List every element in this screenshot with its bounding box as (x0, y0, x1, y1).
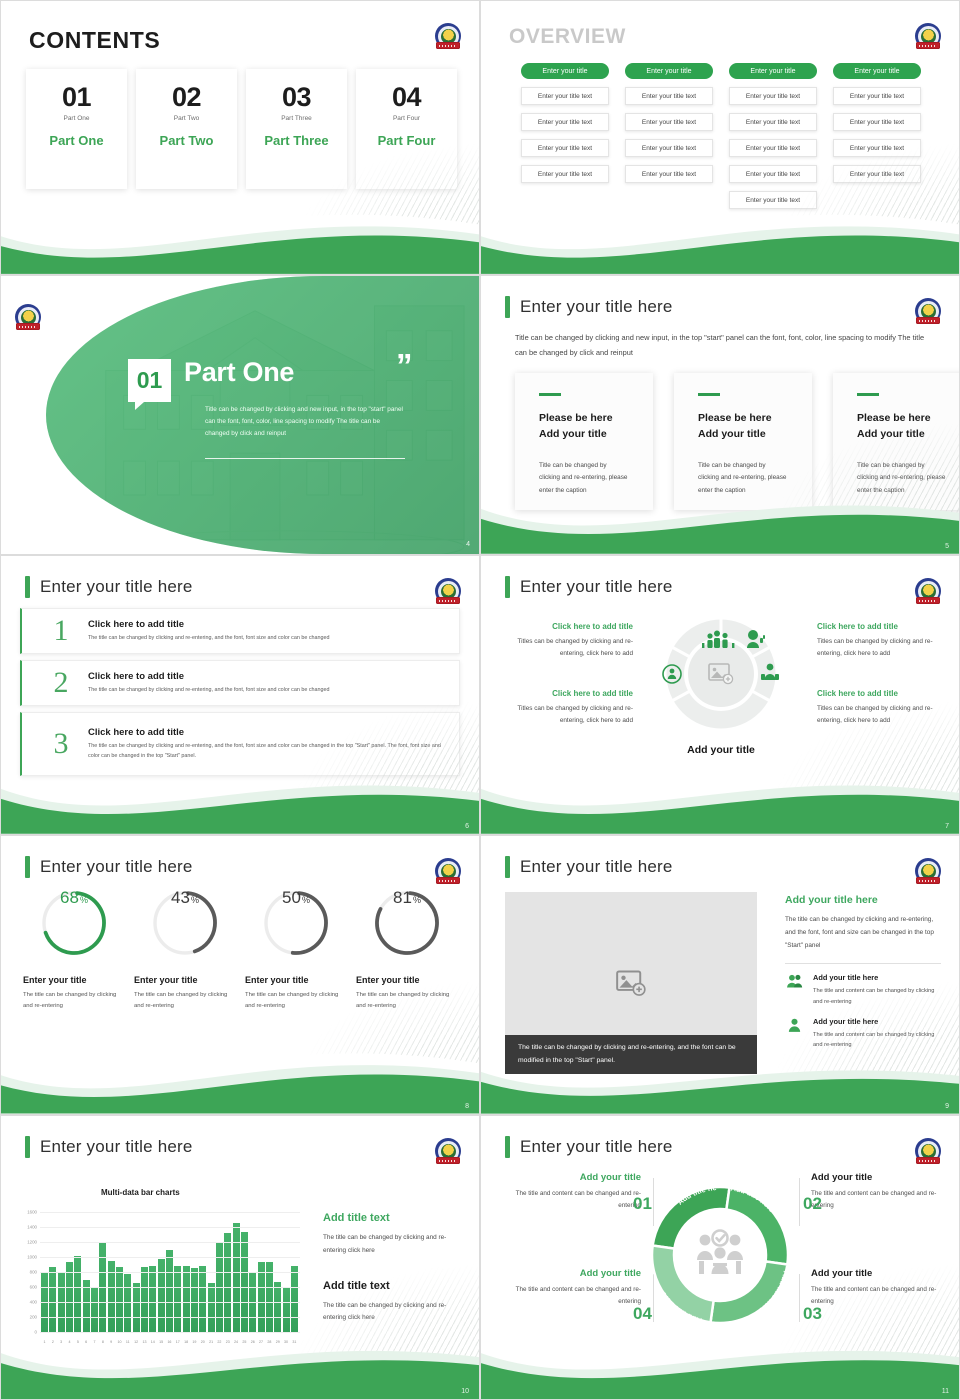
title-accent-bar (505, 1136, 510, 1158)
decorative-wave (1, 1019, 479, 1114)
item-title: Add your title here (813, 1017, 941, 1026)
y-axis-tick: 1400 (15, 1225, 37, 1230)
overview-box[interactable]: Enter your title text (729, 139, 817, 157)
progress-ring: 43 % (150, 888, 220, 958)
title-text: Enter your title here (40, 577, 193, 597)
donut-caption: Add your title (481, 744, 960, 756)
slide-contents: CONTENTS 01 Part One Part One 02 Part Tw… (0, 0, 480, 275)
overview-box[interactable]: Enter your title text (625, 139, 713, 157)
page-number: 7 (945, 823, 949, 830)
item-title: Click here to add title (88, 671, 447, 682)
node-title: Add your title (811, 1172, 943, 1183)
divider-rule (205, 458, 405, 459)
image-placeholder-icon (616, 968, 646, 998)
page-title: Enter your title here (25, 856, 193, 878)
org-logo-icon (915, 578, 941, 604)
ring-body: The title can be changed by clicking and… (23, 990, 125, 1012)
card-list: Please be here Add your title Title can … (515, 373, 960, 510)
org-logo-icon (435, 858, 461, 884)
slide-percent-rings: Enter your title here 68 % Enter your ti… (0, 835, 480, 1115)
bar (49, 1267, 56, 1332)
segment-body: Titles can be changed by clicking and re… (817, 703, 942, 728)
bar (233, 1223, 240, 1332)
item-body: The title and content can be changed by … (813, 1030, 941, 1051)
card-number: 03 (282, 84, 311, 111)
org-logo-icon (435, 578, 461, 604)
card-accent-dash (539, 393, 561, 396)
card-subtitle: Part One (63, 115, 89, 122)
item-number: 3 (34, 729, 88, 759)
card-number: 02 (172, 84, 201, 111)
card-body: Title can be changed by clicking and re-… (857, 460, 947, 497)
bar (174, 1266, 181, 1332)
title-text: Enter your title here (40, 1137, 193, 1157)
item-title: Click here to add title (88, 619, 447, 630)
list-item[interactable]: 1 Click here to add title The title can … (20, 608, 460, 654)
decorative-wave (1, 181, 479, 274)
y-axis-tick: 1600 (15, 1210, 37, 1215)
bar (199, 1266, 206, 1332)
decorative-wave (481, 1337, 959, 1399)
card-label: Part Two (160, 133, 214, 148)
info-card[interactable]: Please be here Add your title Title can … (674, 373, 812, 510)
page-number: 5 (945, 543, 949, 550)
segment-text-block: Click here to add title Titles can be ch… (508, 689, 633, 728)
page-number: 6 (465, 823, 469, 830)
card-label: Part One (49, 133, 103, 148)
item-number: 1 (34, 616, 88, 646)
segment-title: Click here to add title (817, 689, 942, 698)
y-axis-tick: 1000 (15, 1255, 37, 1260)
overview-column: Enter your title Enter your title text E… (833, 63, 921, 209)
percent-sign: % (302, 895, 310, 905)
bar (124, 1274, 131, 1332)
slide-bar-chart: Enter your title here Multi-data bar cha… (0, 1115, 480, 1400)
card-title: Please be here Add your title (698, 410, 788, 443)
segment-title: Click here to add title (508, 689, 633, 698)
grid-line (40, 1287, 300, 1288)
page-number: 11 (942, 1388, 949, 1395)
org-logo-icon (915, 298, 941, 324)
bar (116, 1267, 123, 1332)
card-number: 01 (62, 84, 91, 111)
segment-text-block: Click here to add title Titles can be ch… (817, 689, 942, 728)
slide-donut-segments: Enter your title here Click here to add … (480, 555, 960, 835)
percent-value: 81 (393, 888, 412, 908)
contents-heading: CONTENTS (29, 27, 160, 54)
title-accent-bar (505, 296, 510, 318)
segment-text-block: Click here to add title Titles can be ch… (508, 622, 633, 661)
list-item[interactable]: Add your title here The title and conten… (785, 964, 941, 1007)
slide-image-text: Enter your title here The title can be c… (480, 835, 960, 1115)
card-title: Please be here Add your title (857, 410, 947, 443)
contents-card[interactable]: 04 Part Four Part Four (356, 69, 457, 189)
overview-grid: Enter your title Enter your title text E… (521, 63, 921, 209)
side-heading: Add title text (323, 1212, 465, 1224)
grid-line (40, 1332, 300, 1333)
chart-title: Multi-data bar charts (101, 1188, 180, 1197)
segment-title: Click here to add title (508, 622, 633, 631)
side-body: The title can be changed by clicking and… (323, 1232, 465, 1258)
item-body: The title and content can be changed by … (813, 986, 941, 1007)
bar (166, 1250, 173, 1332)
bar (158, 1259, 165, 1332)
overview-box[interactable]: Enter your title text (521, 113, 609, 131)
page-title: Enter your title here (505, 576, 673, 598)
two-people-icon (785, 973, 804, 1007)
page-number: 4 (466, 541, 470, 548)
overview-box[interactable]: Enter your title text (833, 165, 921, 183)
title-accent-bar (505, 856, 510, 878)
contents-card[interactable]: 02 Part Two Part Two (136, 69, 237, 189)
percent-sign: % (80, 895, 88, 905)
y-axis-tick: 800 (15, 1270, 37, 1275)
ring-label: Enter your title (134, 975, 198, 985)
card-title: Please be here Add your title (539, 410, 629, 443)
info-card[interactable]: Please be here Add your title Title can … (515, 373, 653, 510)
bar (149, 1266, 156, 1332)
segment-body: Titles can be changed by clicking and re… (508, 636, 633, 661)
list-item[interactable]: 2 Click here to add title The title can … (20, 660, 460, 706)
page-title: Enter your title here (25, 576, 193, 598)
single-person-icon (785, 1017, 804, 1051)
page-number: 9 (945, 1103, 949, 1110)
overview-box[interactable]: Enter your title text (625, 165, 713, 183)
numbered-row-list: 1 Click here to add title The title can … (20, 608, 460, 776)
ring-body: The title can be changed by clicking and… (356, 990, 458, 1012)
page-number: 8 (465, 1103, 469, 1110)
overview-pill[interactable]: Enter your title (625, 63, 713, 79)
item-number: 2 (34, 668, 88, 698)
grid-line (40, 1257, 300, 1258)
info-card[interactable]: Please be here Add your title Title can … (833, 373, 960, 510)
bar (91, 1287, 98, 1332)
overview-box[interactable]: Enter your title text (521, 139, 609, 157)
node-body: The title and content can be changed and… (509, 1188, 641, 1212)
bar (191, 1268, 198, 1332)
org-logo-icon (435, 23, 461, 49)
list-item[interactable]: Add your title here The title and conten… (785, 1008, 941, 1051)
overview-box[interactable]: Enter your title text (521, 165, 609, 183)
percent-sign: % (191, 895, 199, 905)
card-subtitle: Part Three (281, 115, 312, 122)
overview-pill[interactable]: Enter your title (729, 63, 817, 79)
cycle-diagram[interactable]: Add title here Add title here Add title … (639, 1174, 801, 1336)
bar (274, 1282, 281, 1332)
segment-title: Click here to add title (817, 622, 942, 631)
card-subtitle: Part Four (393, 115, 420, 122)
bar (141, 1267, 148, 1332)
cycle-node-text: Add your title The title and content can… (811, 1268, 943, 1308)
right-body: The title can be changed by clicking and… (785, 914, 941, 952)
page-title: Enter your title here (505, 1136, 673, 1158)
overview-pill[interactable]: Enter your title (833, 63, 921, 79)
decorative-wave (1, 767, 479, 834)
slide-overview: OVERVIEW Enter your title Enter your tit… (480, 0, 960, 275)
overview-column: Enter your title Enter your title text E… (729, 63, 817, 209)
grid-line (40, 1212, 300, 1213)
item-title: Click here to add title (88, 727, 447, 738)
percent-value: 50 (282, 888, 301, 908)
progress-ring: 68 % (39, 888, 109, 958)
grid-line (40, 1242, 300, 1243)
y-axis-tick: 0 (15, 1330, 37, 1335)
segment-body: Titles can be changed by clicking and re… (817, 636, 942, 661)
grid-line (40, 1302, 300, 1303)
title-text: Enter your title here (520, 1137, 673, 1157)
grid-line (40, 1272, 300, 1273)
bar (283, 1288, 290, 1332)
list-item[interactable]: 3 Click here to add title The title can … (20, 712, 460, 776)
bar (74, 1256, 81, 1332)
title-accent-bar (25, 856, 30, 878)
ring-body: The title can be changed by clicking and… (245, 990, 347, 1012)
contents-card[interactable]: 03 Part Three Part Three (246, 69, 347, 189)
org-logo-icon (915, 858, 941, 884)
card-accent-dash (857, 393, 879, 396)
progress-ring: 50 % (261, 888, 331, 958)
slide-cycle-diagram: Enter your title here Add your title The… (480, 1115, 960, 1400)
bar-chart[interactable]: 1234567891011121314151617181920212223242… (15, 1204, 300, 1354)
percent-ring-item[interactable]: 81 % Enter your title The title can be c… (356, 888, 458, 1012)
percent-ring-item[interactable]: 50 % Enter your title The title can be c… (245, 888, 347, 1012)
node-number: 02 (803, 1194, 822, 1214)
percent-value: 68 (60, 888, 79, 908)
node-body: The title and content can be changed and… (811, 1284, 943, 1308)
title-text: Enter your title here (40, 857, 193, 877)
slide-section-divider: 4 01 Part One ” Title can be changed by … (0, 275, 480, 555)
image-caption: The title can be changed by clicking and… (505, 1035, 757, 1074)
node-body: The title and content can be changed and… (811, 1188, 943, 1212)
overview-pill[interactable]: Enter your title (521, 63, 609, 79)
overview-box[interactable]: Enter your title text (833, 87, 921, 105)
bar (183, 1266, 190, 1332)
node-title: Add your title (509, 1172, 641, 1183)
title-accent-bar (25, 1136, 30, 1158)
card-number: 04 (392, 84, 421, 111)
overview-box[interactable]: Enter your title text (521, 87, 609, 105)
card-body: Title can be changed by clicking and re-… (539, 460, 629, 497)
quote-mark-icon: ” (396, 354, 413, 377)
overview-box[interactable]: Enter your title text (625, 113, 713, 131)
percent-value: 43 (171, 888, 190, 908)
segment-body: Titles can be changed by clicking and re… (508, 703, 633, 728)
overview-box[interactable]: Enter your title text (729, 191, 817, 209)
org-logo-icon (15, 304, 41, 330)
right-content: Add your title here The title can be cha… (785, 894, 941, 1051)
y-axis-tick: 200 (15, 1315, 37, 1320)
card-label: Part Three (264, 133, 328, 148)
segment-text-block: Click here to add title Titles can be ch… (817, 622, 942, 661)
title-text: Enter your title here (520, 577, 673, 597)
slide-three-cards: Enter your title here Title can be chang… (480, 275, 960, 555)
y-axis-tick: 600 (15, 1285, 37, 1290)
percent-ring-item[interactable]: 43 % Enter your title The title can be c… (134, 888, 236, 1012)
y-axis-tick: 400 (15, 1300, 37, 1305)
item-body: The title can be changed by clicking and… (88, 686, 447, 696)
percent-ring-item[interactable]: 68 % Enter your title The title can be c… (23, 888, 125, 1012)
overview-box[interactable]: Enter your title text (729, 87, 817, 105)
node-title: Add your title (509, 1268, 641, 1279)
ring-label: Enter your title (245, 975, 309, 985)
intro-paragraph: Title can be changed by clicking and new… (515, 330, 925, 360)
side-heading: Add title text (323, 1280, 465, 1292)
title-text: Enter your title here (520, 297, 673, 317)
ring-label: Enter your title (356, 975, 420, 985)
contents-card-list: 01 Part One Part One 02 Part Two Part Tw… (26, 69, 457, 189)
node-body: The title and content can be changed and… (509, 1284, 641, 1308)
grid-line (40, 1227, 300, 1228)
section-description: Title can be changed by clicking and new… (205, 404, 405, 440)
ring-label: Enter your title (23, 975, 87, 985)
y-axis-tick: 1200 (15, 1240, 37, 1245)
slide-deck-contact-sheet: CONTENTS 01 Part One Part One 02 Part Tw… (0, 0, 960, 1400)
node-number: 03 (803, 1304, 822, 1324)
bar (208, 1283, 215, 1332)
card-body: Title can be changed by clicking and re-… (698, 460, 788, 497)
right-title: Add your title here (785, 894, 941, 906)
org-logo-icon (435, 1138, 461, 1164)
title-accent-bar (25, 576, 30, 598)
cycle-node-text: Add your title The title and content can… (509, 1172, 641, 1212)
item-body: The title can be changed by clicking and… (88, 742, 447, 761)
node-title: Add your title (811, 1268, 943, 1279)
overview-box[interactable]: Enter your title text (729, 165, 817, 183)
page-title: Enter your title here (25, 1136, 193, 1158)
segmented-donut-chart[interactable] (659, 612, 783, 736)
card-subtitle: Part Two (174, 115, 200, 122)
contents-card[interactable]: 01 Part One Part One (26, 69, 127, 189)
x-axis-labels: 1234567891011121314151617181920212223242… (41, 1340, 298, 1344)
card-label: Part Four (378, 133, 436, 148)
item-body: The title can be changed by clicking and… (88, 634, 447, 644)
percent-ring-list: 68 % Enter your title The title can be c… (23, 888, 458, 1012)
overview-box[interactable]: Enter your title text (625, 87, 713, 105)
chart-side-text: Add title text The title can be changed … (323, 1212, 465, 1325)
section-number-badge: 01 (128, 359, 171, 402)
org-logo-icon (915, 1138, 941, 1164)
overview-heading: OVERVIEW (509, 25, 626, 49)
grid-line (40, 1317, 300, 1318)
title-accent-bar (505, 576, 510, 598)
bar (291, 1266, 298, 1332)
side-body: The title can be changed by clicking and… (323, 1300, 465, 1326)
overview-box[interactable]: Enter your title text (729, 113, 817, 131)
slide-numbered-list: Enter your title here 1 Click here to ad… (0, 555, 480, 835)
percent-sign: % (413, 895, 421, 905)
title-text: Enter your title here (520, 857, 673, 877)
org-logo-icon (915, 23, 941, 49)
overview-box[interactable]: Enter your title text (833, 139, 921, 157)
page-title: Enter your title here (505, 296, 673, 318)
cycle-node-text: Add your title The title and content can… (509, 1268, 641, 1308)
progress-ring: 81 % (372, 888, 442, 958)
card-accent-dash (698, 393, 720, 396)
cycle-node-text: Add your title The title and content can… (811, 1172, 943, 1212)
bar (133, 1283, 140, 1332)
ring-body: The title can be changed by clicking and… (134, 990, 236, 1012)
overview-box[interactable]: Enter your title text (833, 113, 921, 131)
page-number: 10 (461, 1388, 469, 1395)
overview-column: Enter your title Enter your title text E… (521, 63, 609, 209)
overview-column: Enter your title Enter your title text E… (625, 63, 713, 209)
section-heading-block: 01 Part One (128, 359, 294, 402)
item-title: Add your title here (813, 973, 941, 982)
page-title: Enter your title here (505, 856, 673, 878)
section-title: Part One (184, 359, 294, 386)
